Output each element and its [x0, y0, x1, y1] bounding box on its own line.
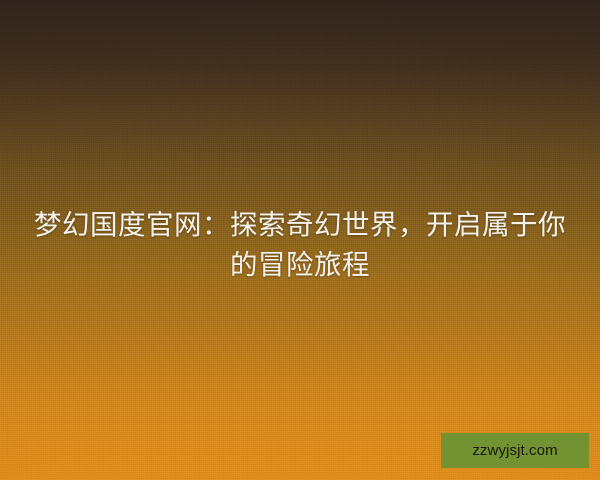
banner-title-block: 梦幻国度官网：探索奇幻世界，开启属于你的冒险旅程 [0, 205, 600, 285]
watermark-badge: zzwyjsjt.com [441, 433, 589, 468]
banner-title: 梦幻国度官网：探索奇幻世界，开启属于你的冒险旅程 [22, 205, 578, 285]
promo-banner: 梦幻国度官网：探索奇幻世界，开启属于你的冒险旅程 zzwyjsjt.com [0, 0, 600, 480]
watermark-domain-label: zzwyjsjt.com [472, 443, 557, 458]
